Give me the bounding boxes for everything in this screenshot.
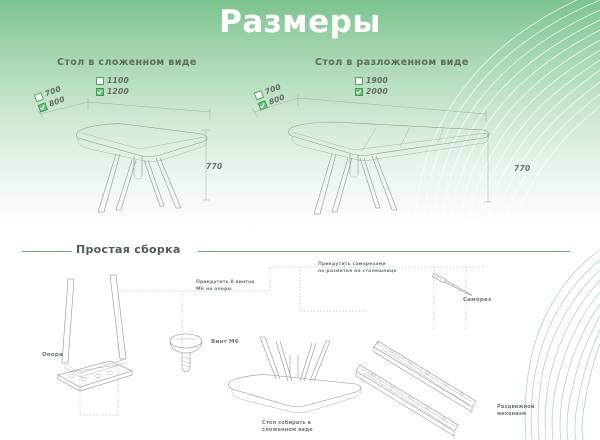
note-bolts: Прикрутить 8 винтов М6 на опоры — [196, 280, 254, 293]
swirl-decoration-bottom — [470, 250, 600, 440]
extension-rail-illustration — [356, 341, 476, 436]
note-bolts-line1: Прикрутить 8 винтов — [196, 280, 254, 287]
note-mechanism-line2: механизм — [497, 411, 535, 418]
note-screws-line2: по разметке на столешнице — [318, 269, 397, 276]
note-self-tapping-screw: Саморез — [463, 296, 491, 304]
note-fold-line2: сложенном виде — [262, 427, 313, 434]
unfolded-table-drawing — [240, 80, 530, 230]
note-mechanism-line1: Раздвижной — [497, 404, 535, 411]
page-title: Размеры — [0, 4, 600, 40]
note-fold-line1: Стол собирать в — [262, 420, 313, 427]
section-caption-unfolded: Стол в разложенном виде — [315, 57, 469, 68]
folded-table-drawing — [20, 80, 250, 230]
note-support: Опора — [42, 351, 63, 359]
divider-line-left — [22, 251, 72, 252]
note-mechanism: Раздвижной механизм — [497, 404, 535, 419]
self-tapping-screw-illustration — [432, 273, 473, 297]
page-root: Размеры Стол в сложенном виде 1100 1200 … — [0, 0, 600, 440]
section-caption-folded: Стол в сложенном виде — [57, 57, 197, 68]
note-bolt: Винт М6 — [211, 338, 239, 346]
note-fold: Стол собирать в сложенном виде — [262, 420, 313, 435]
table-underside-illustration — [229, 337, 361, 413]
bolt-illustration — [170, 334, 202, 372]
note-screws: Прикрутить саморезами по разметке на сто… — [318, 262, 397, 275]
note-bolts-line2: М6 на опоры — [196, 287, 254, 294]
note-screws-line1: Прикрутить саморезами — [318, 262, 397, 269]
